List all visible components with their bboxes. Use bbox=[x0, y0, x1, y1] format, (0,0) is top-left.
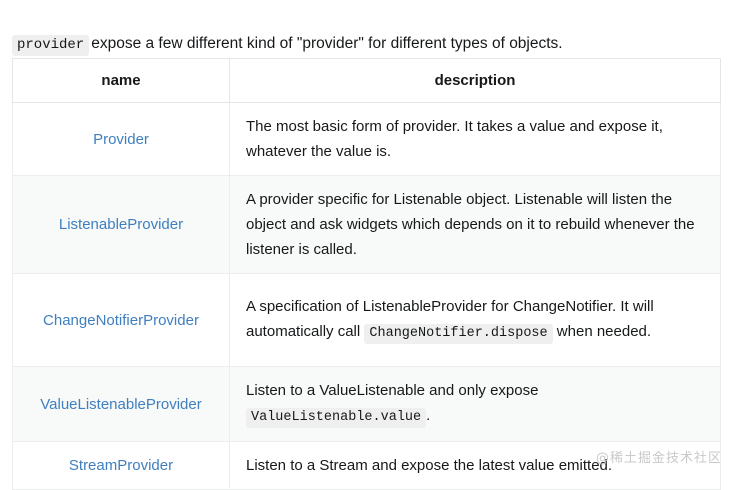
description-text: A provider specific for Listenable objec… bbox=[246, 191, 695, 258]
provider-link-provider[interactable]: Provider bbox=[93, 131, 149, 148]
provider-link-listenableprovider[interactable]: ListenableProvider bbox=[59, 216, 183, 233]
inline-code-changenotifier-dispose: ChangeNotifier.dispose bbox=[364, 324, 552, 344]
cell-name: ValueListenableProvider bbox=[13, 367, 230, 442]
intro-paragraph: providerexpose a few different kind of "… bbox=[12, 32, 722, 57]
table-header: name description bbox=[13, 59, 721, 103]
table-header-row: name description bbox=[13, 59, 721, 103]
site-watermark: @稀土掘金技术社区 bbox=[596, 447, 722, 466]
description-text: The most basic form of provider. It take… bbox=[246, 118, 663, 160]
cell-name: ChangeNotifierProvider bbox=[13, 274, 230, 367]
description-text-after: when needed. bbox=[557, 323, 651, 340]
intro-text: expose a few different kind of "provider… bbox=[91, 35, 562, 52]
provider-link-streamprovider[interactable]: StreamProvider bbox=[69, 457, 173, 474]
table-body: Provider The most basic form of provider… bbox=[13, 103, 721, 490]
table-row: ChangeNotifierProvider A specification o… bbox=[13, 274, 721, 367]
description-text-before: Listen to a ValueListenable and only exp… bbox=[246, 382, 538, 399]
provider-link-valuelistenableprovider[interactable]: ValueListenableProvider bbox=[40, 396, 202, 413]
table-row: ListenableProvider A provider specific f… bbox=[13, 176, 721, 274]
cell-name: Provider bbox=[13, 103, 230, 176]
column-header-description: description bbox=[230, 59, 721, 103]
cell-name: ListenableProvider bbox=[13, 176, 230, 274]
column-header-name: name bbox=[13, 59, 230, 103]
cell-description: The most basic form of provider. It take… bbox=[230, 103, 721, 176]
cell-name: StreamProvider bbox=[13, 442, 230, 490]
cell-description: Listen to a ValueListenable and only exp… bbox=[230, 367, 721, 442]
table-row: Provider The most basic form of provider… bbox=[13, 103, 721, 176]
provider-link-changenotifierprovider[interactable]: ChangeNotifierProvider bbox=[43, 312, 199, 329]
cell-description: A specification of ListenableProvider fo… bbox=[230, 274, 721, 367]
document-page: providerexpose a few different kind of "… bbox=[0, 0, 732, 470]
description-text-after: . bbox=[426, 407, 430, 424]
inline-code-provider: provider bbox=[12, 35, 89, 56]
cell-description: A provider specific for Listenable objec… bbox=[230, 176, 721, 274]
providers-table-wrapper: name description Provider The most basic… bbox=[12, 58, 720, 490]
providers-table: name description Provider The most basic… bbox=[12, 58, 721, 490]
description-text: Listen to a Stream and expose the latest… bbox=[246, 457, 612, 474]
inline-code-valuelistenable-value: ValueListenable.value bbox=[246, 408, 426, 428]
table-row: ValueListenableProvider Listen to a Valu… bbox=[13, 367, 721, 442]
